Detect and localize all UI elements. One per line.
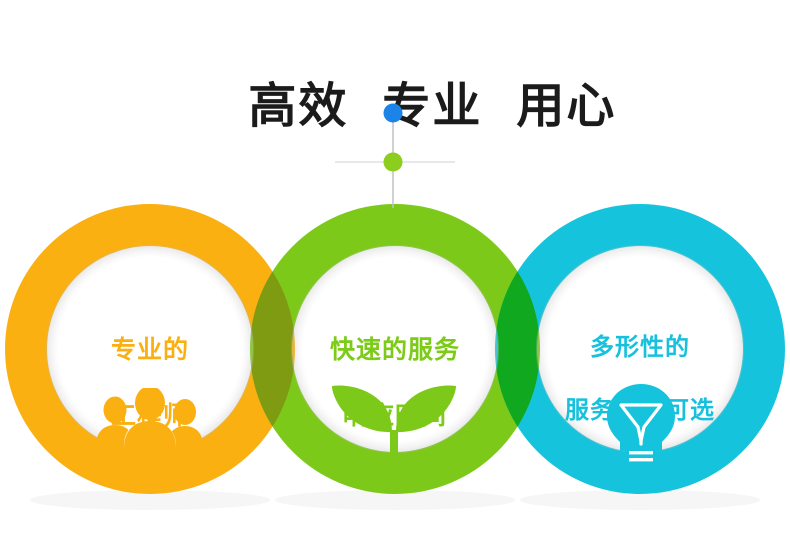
sprout-leaf-left — [332, 386, 392, 433]
infographic-canvas: 高效专业用心 — [0, 0, 790, 557]
circle-3-label-line-1: 多形性的 — [536, 332, 744, 364]
circle-1-label-line-1: 专业的 — [64, 333, 236, 366]
bulb-base-stripe-1 — [629, 451, 653, 454]
circle-2-label-line-1: 快速的服务 — [302, 333, 488, 366]
team-people-icon — [95, 388, 205, 460]
bulb-base-stripe-2 — [629, 458, 653, 461]
lightbulb-idea-icon — [600, 383, 682, 465]
sprout-leaf-right — [396, 386, 456, 433]
venn-diagram — [0, 0, 790, 557]
sprout-stem — [390, 430, 398, 468]
sprout-plant-icon — [330, 382, 458, 468]
